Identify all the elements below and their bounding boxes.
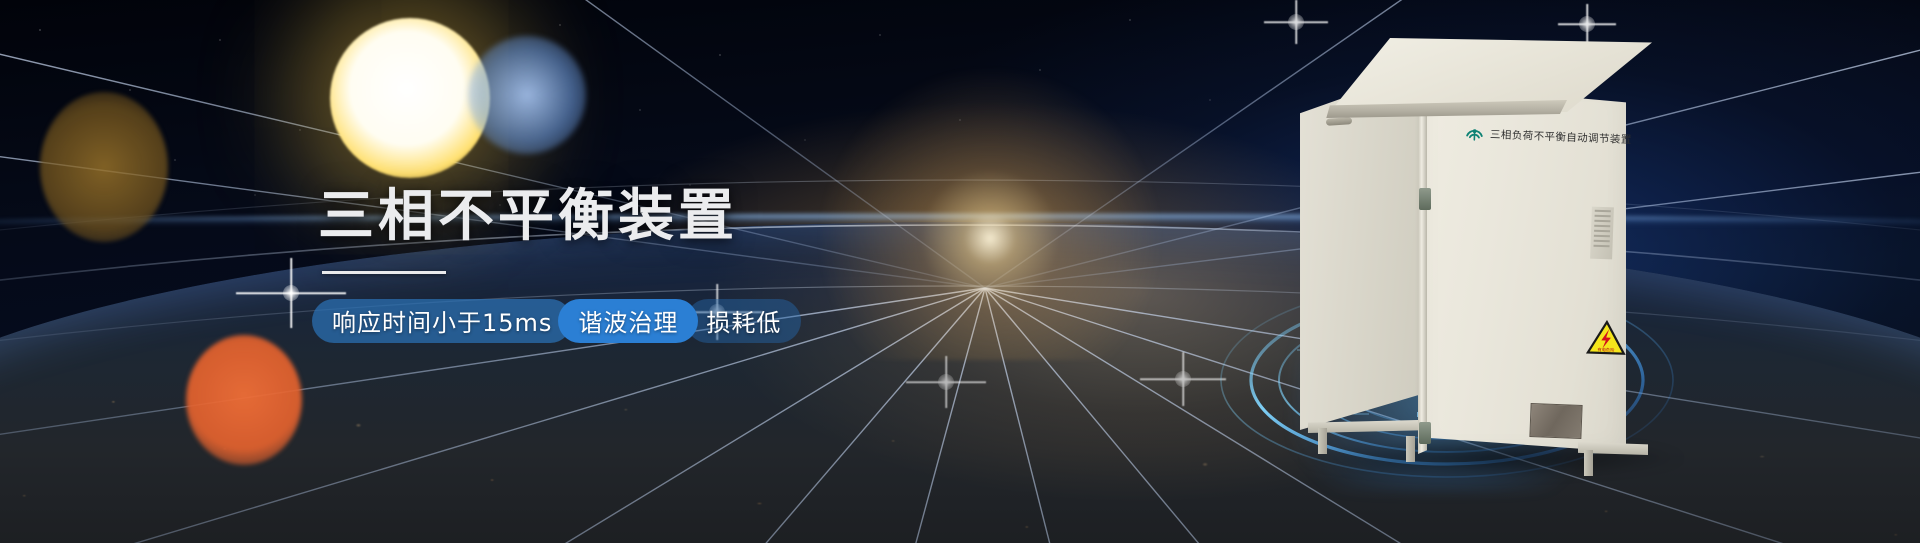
bokeh-blue-glow: [468, 36, 586, 154]
cabinet-hinge-bottom: [1419, 422, 1431, 444]
title-divider: [322, 271, 446, 274]
feature-tag-list: 响应时间小于15ms 谐波治理 损耗低: [312, 299, 938, 343]
bokeh-white-glow: [330, 18, 490, 178]
cabinet-bottom-grille: [1529, 403, 1582, 439]
cabinet-leg: [1584, 450, 1593, 476]
page-title: 三相不平衡装置: [318, 186, 938, 249]
bokeh-orange-circle: [186, 335, 302, 465]
banner-copy: 三相不平衡装置 响应时间小于15ms 谐波治理 损耗低: [318, 186, 938, 343]
cabinet-leg: [1318, 428, 1327, 454]
feature-tag-harmonic-control[interactable]: 谐波治理: [558, 299, 698, 343]
cabinet-vent: [1590, 207, 1614, 260]
cabinet-door-jamb: [1418, 82, 1427, 454]
cabinet-left-panel: [1300, 70, 1422, 430]
cabinet-leg: [1406, 436, 1415, 462]
brand-logo-icon: [1464, 123, 1486, 145]
cabinet-hinge-top: [1419, 188, 1431, 210]
feature-tag-low-loss[interactable]: 损耗低: [686, 299, 801, 343]
bokeh-amber-circle: [40, 92, 168, 242]
hero-banner: 三相负荷不平衡自动调节装置 有电危险 三相不平衡装置 响应时间小于15ms 谐波…: [0, 0, 1920, 543]
feature-tag-response-time[interactable]: 响应时间小于15ms: [312, 299, 572, 343]
product-cabinet: 三相负荷不平衡自动调节装置 有电危险: [1278, 22, 1698, 472]
cabinet-label-text: 三相负荷不平衡自动调节装置: [1490, 127, 1632, 147]
